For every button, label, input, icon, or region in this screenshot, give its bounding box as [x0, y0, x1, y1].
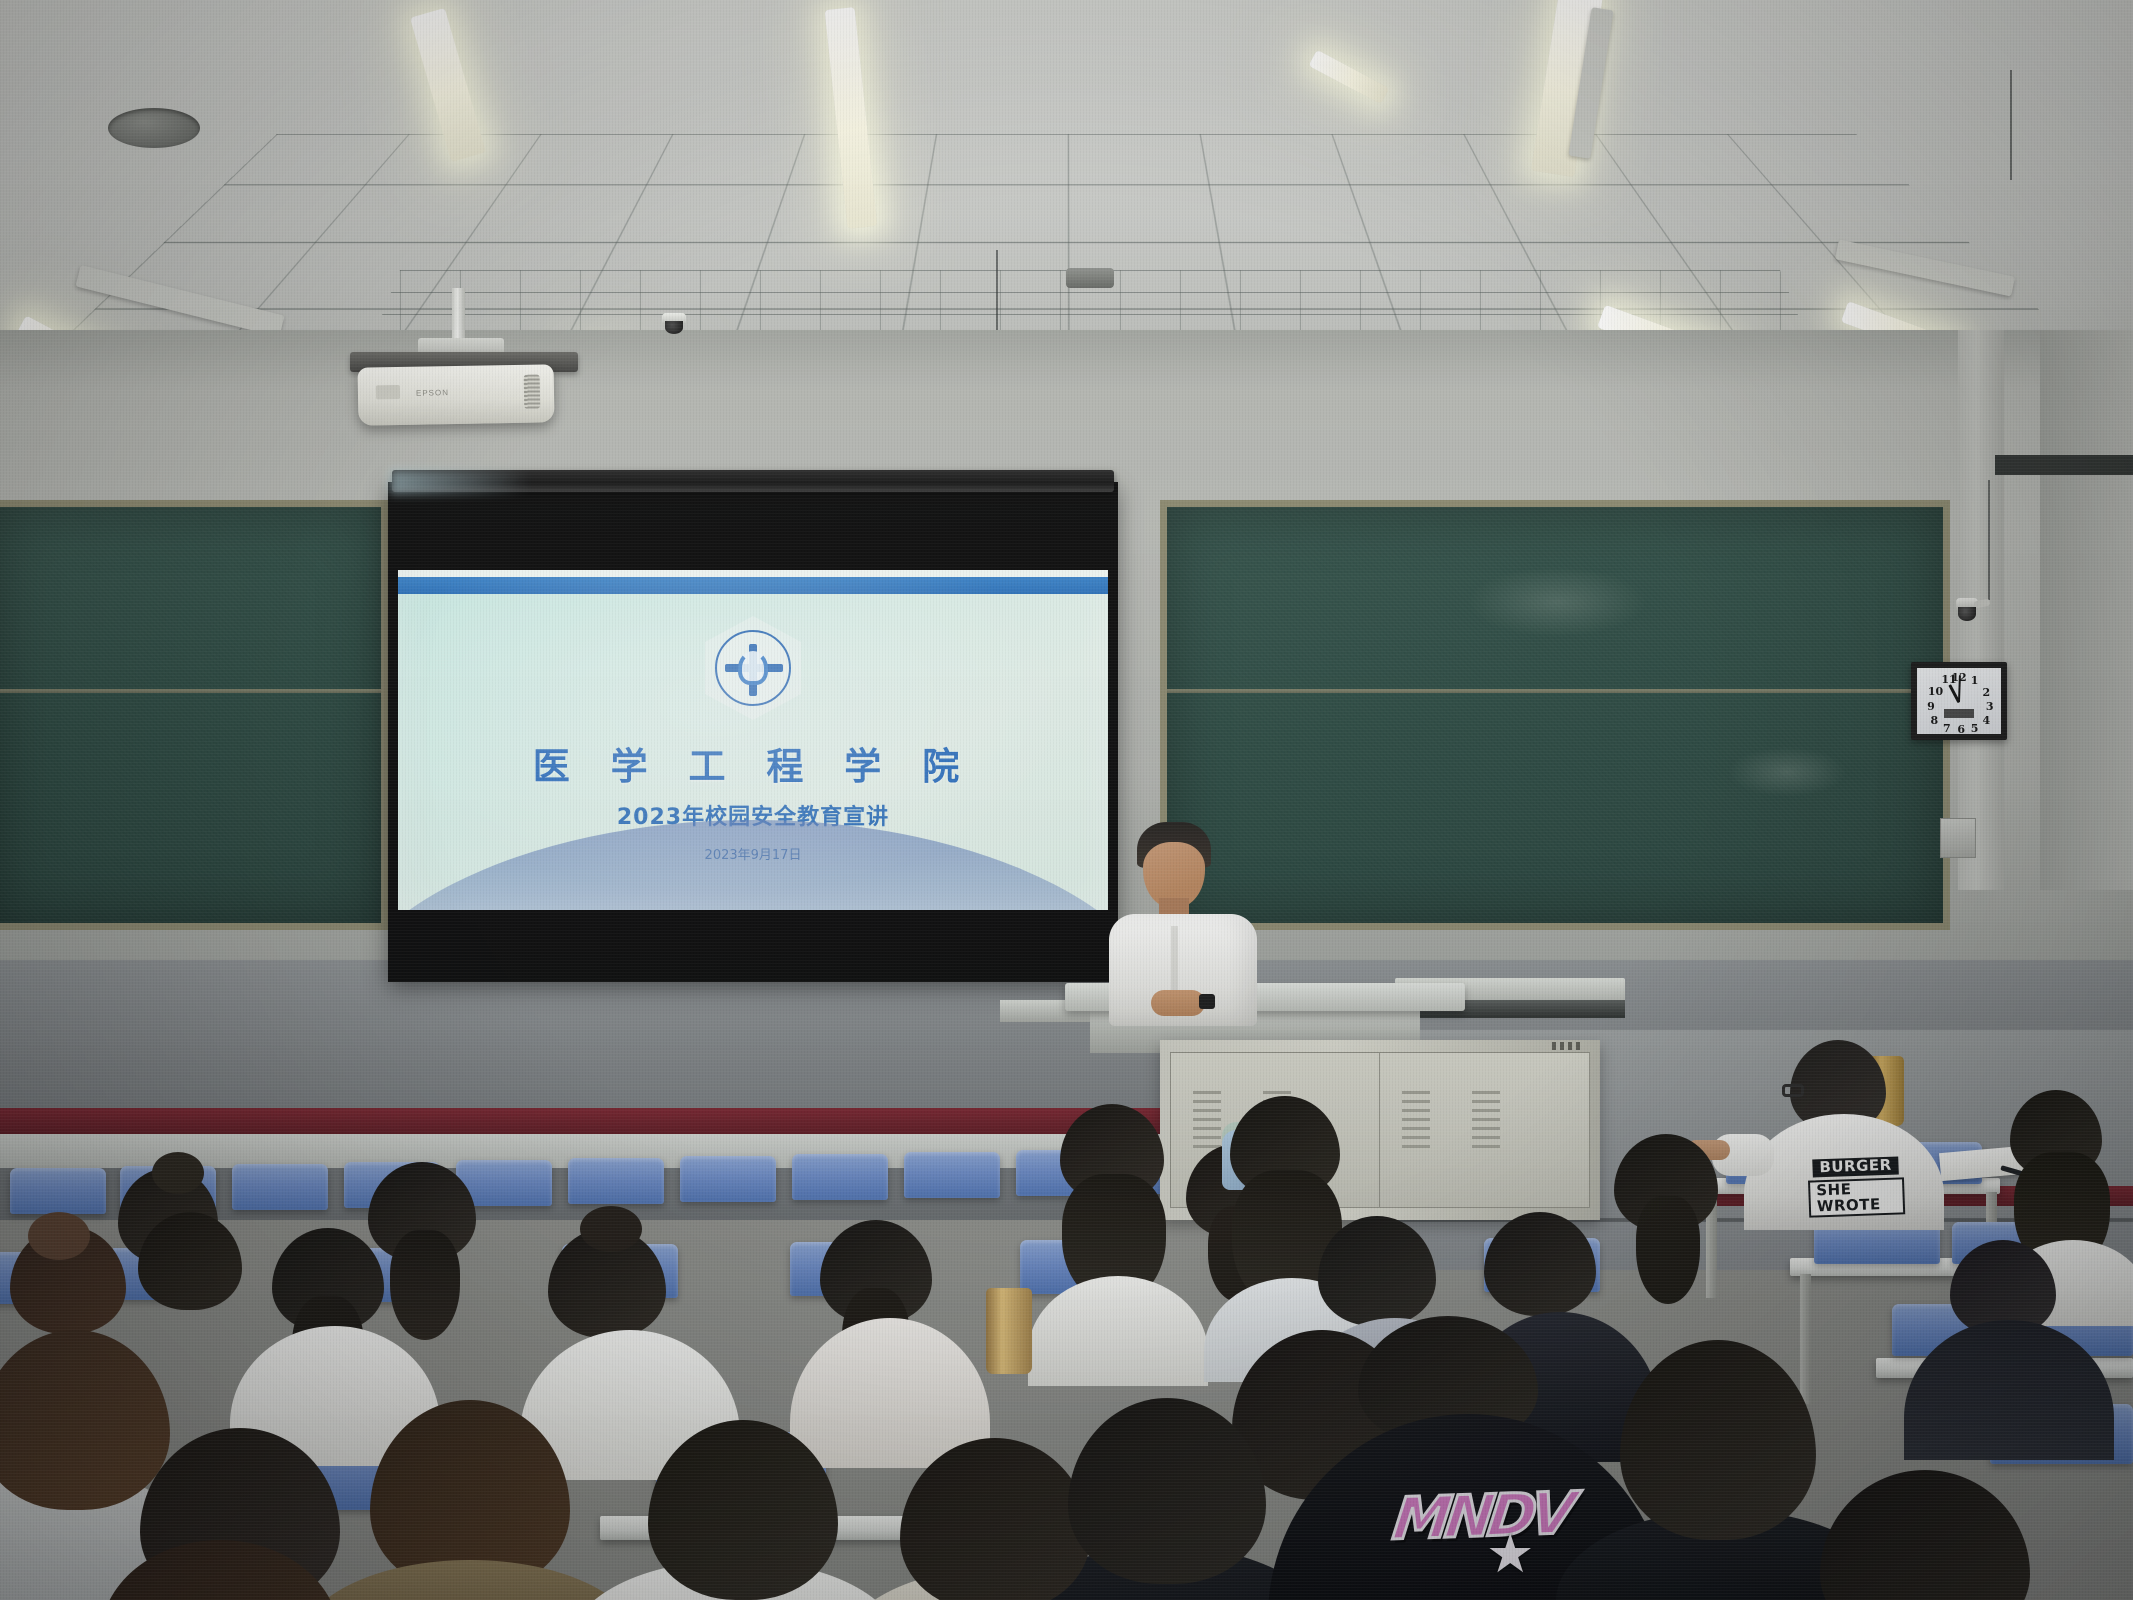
tshirt-graphic: BURGER SHE WROTE [1807, 1156, 1904, 1203]
clock-minute-hand [1958, 675, 1961, 702]
wall-panel-box [1940, 818, 1976, 858]
cabinet-vent [1193, 1091, 1221, 1151]
slide-title: 医 学 工 程 学 院 [533, 736, 973, 790]
university-logo [705, 616, 801, 720]
clock-number: 5 [1971, 722, 1979, 735]
clock-number: 1 [1971, 674, 1979, 687]
lecture-hall-photo: EPSON 医 学 工 程 学 院 2023年校园安全教育宣讲 2023年9月1… [0, 0, 2133, 1600]
audience-hair-bun [152, 1152, 204, 1194]
tshirt-text-line1: BURGER [1812, 1157, 1899, 1178]
audience-hair-bun [580, 1206, 642, 1252]
desk-leg [1800, 1274, 1811, 1404]
projector: EPSON [358, 364, 555, 425]
wall-clock: 12 1 2 3 4 5 6 7 8 9 10 11 [1911, 662, 2007, 740]
clock-number: 10 [1928, 685, 1943, 698]
audience-head-foreground [1820, 1470, 2030, 1600]
clock-number: 7 [1943, 722, 1951, 735]
tshirt-text-line2: SHE WROTE [1808, 1177, 1905, 1218]
presentation-slide: 医 学 工 程 学 院 2023年校园安全教育宣讲 2023年9月17日 [398, 570, 1108, 910]
projector-vent [376, 385, 400, 399]
audience-torso-foreground [300, 1560, 640, 1600]
seat[interactable] [10, 1168, 106, 1214]
security-camera-icon [1952, 598, 1982, 626]
presenter-wristwatch [1199, 994, 1215, 1009]
projector-brand-label: EPSON [416, 388, 449, 398]
clock-brand-plate [1944, 709, 1974, 718]
seat[interactable] [680, 1156, 776, 1202]
cabinet-indicator-lights [1552, 1042, 1582, 1050]
clock-number: 4 [1983, 714, 1991, 727]
clock-number: 8 [1930, 714, 1938, 727]
projector-lens [524, 375, 541, 409]
blackboard-left [0, 500, 388, 930]
clock-number: 6 [1957, 723, 1965, 736]
jacket-star-icon: ★ [1486, 1522, 1534, 1585]
slide-accent-bar [398, 577, 1108, 594]
ceiling-vent [108, 108, 200, 148]
seat[interactable] [568, 1158, 664, 1204]
wall-upper-band [0, 330, 2133, 390]
seat[interactable] [792, 1154, 888, 1200]
blackboard-right [1160, 500, 1950, 930]
audience-hair-clip [28, 1212, 90, 1260]
slide-top-white-strip [398, 570, 1108, 577]
jacket-graffiti-text: MNDV [1389, 1479, 1574, 1553]
presenter-hands [1151, 990, 1205, 1016]
audience-ponytail [1636, 1196, 1700, 1304]
clock-face: 12 1 2 3 4 5 6 7 8 9 10 11 [1917, 668, 2001, 734]
presenter [1095, 822, 1275, 1022]
cabinet-door-right[interactable] [1379, 1052, 1590, 1208]
clock-number: 3 [1986, 700, 1994, 713]
water-bottle [986, 1288, 1032, 1374]
seat[interactable] [904, 1152, 1000, 1198]
ceiling-vent [1066, 268, 1114, 288]
stage-edge-trim [0, 1108, 1170, 1134]
seat[interactable] [232, 1164, 328, 1210]
ceiling-camera-icon [660, 313, 688, 337]
cabinet-vent [1472, 1091, 1500, 1151]
logo-emblem-icon [715, 630, 791, 706]
projector-light-beam [390, 470, 530, 494]
audience-ponytail [390, 1230, 460, 1340]
audience-head [138, 1212, 242, 1310]
clock-number: 9 [1927, 700, 1935, 713]
wall-pillar [2040, 330, 2133, 890]
eyeglasses-icon [1782, 1084, 1804, 1097]
logo-inner-mark [738, 651, 768, 685]
audience-head-foreground [0, 1330, 170, 1510]
cabinet-vent [1402, 1091, 1430, 1151]
clock-number: 2 [1983, 686, 1991, 699]
wall-shadow-beam [1995, 455, 2133, 475]
